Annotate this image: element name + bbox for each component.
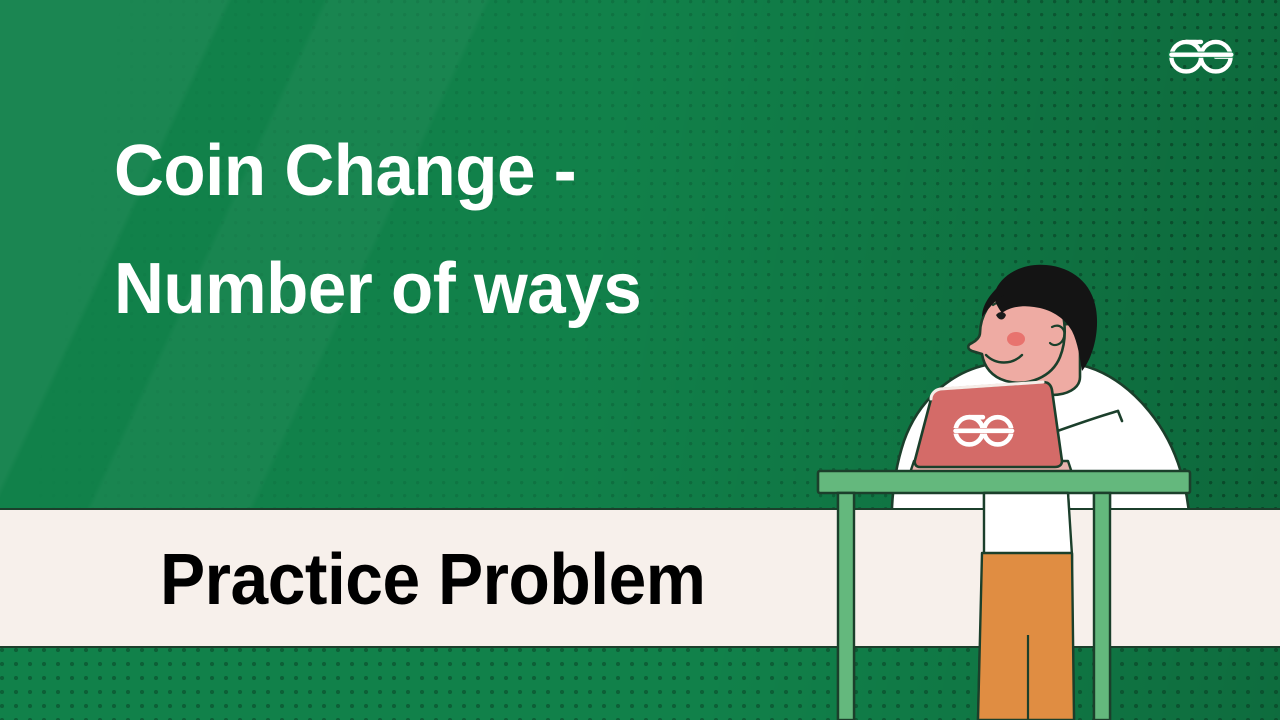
band-label: Practice Problem (160, 538, 705, 622)
page-title: Coin Change - Number of ways (114, 112, 844, 348)
desk-leg-left-front (838, 493, 854, 720)
slide-canvas: Practice Problem Coin Change - Number of… (0, 0, 1280, 720)
desk-leg-right-front (1094, 493, 1110, 720)
geeksforgeeks-logo-icon[interactable] (1164, 32, 1238, 76)
person-trousers-front (978, 493, 1074, 720)
person-at-desk-foreground-layer (800, 255, 1240, 720)
